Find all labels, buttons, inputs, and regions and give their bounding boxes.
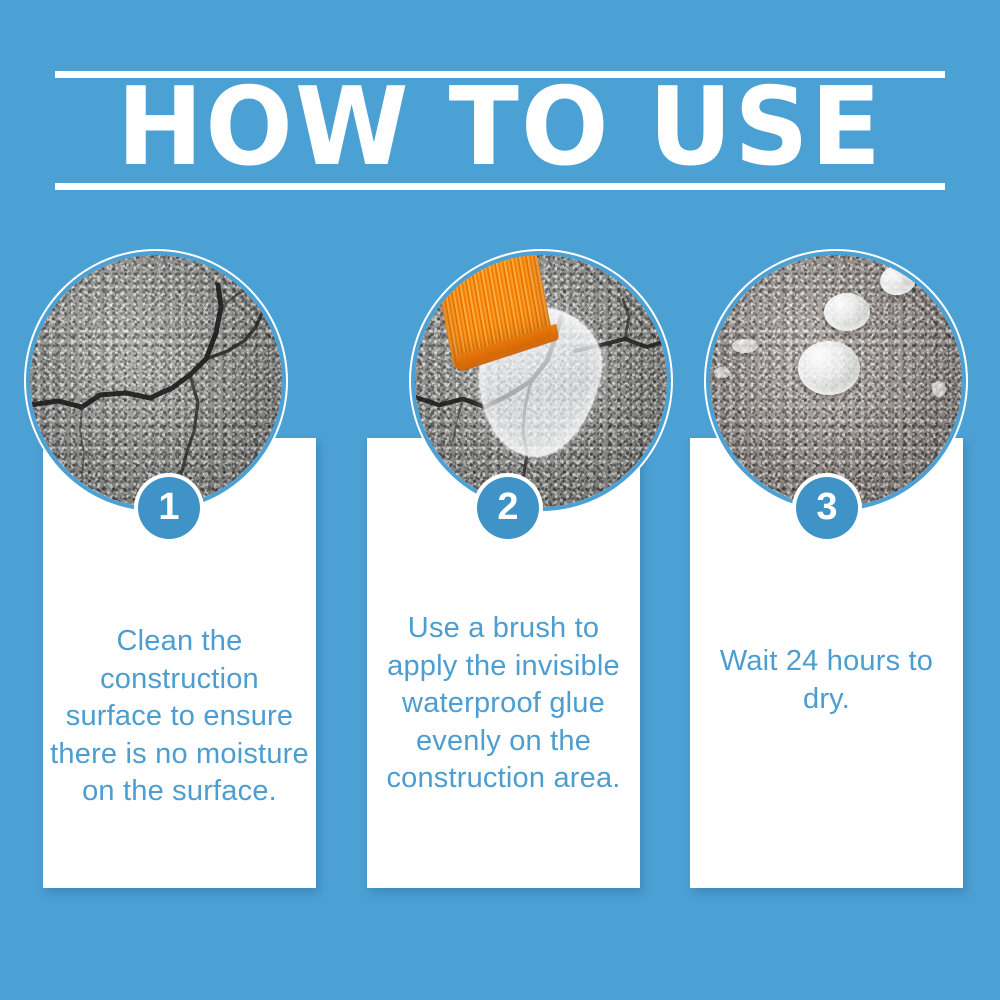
- step-2-number-badge: 2: [477, 477, 539, 539]
- step-1-number-badge: 1: [138, 477, 200, 539]
- step-3-photo-water-droplets-icon: [710, 255, 962, 507]
- crack-lines-icon: [30, 255, 282, 507]
- step-2-photo-brush-applying-glue-icon: [415, 255, 667, 507]
- step-card-2: Use a brush to apply the invisible water…: [367, 255, 640, 915]
- step-3-number-badge: 3: [796, 477, 858, 539]
- step-3-caption: Wait 24 hours to dry.: [696, 643, 957, 718]
- step-card-3: Wait 24 hours to dry. 3: [690, 255, 963, 915]
- step-1-photo-cracked-concrete-icon: [30, 255, 282, 507]
- step-1-caption: Clean the construction surface to ensure…: [49, 623, 310, 811]
- water-droplet-icon: [932, 381, 946, 397]
- how-to-use-infographic: HOW TO USE Clean the construction surfac…: [0, 0, 1000, 1000]
- water-droplet-icon: [798, 341, 860, 395]
- step-2-caption: Use a brush to apply the invisible water…: [373, 610, 634, 798]
- water-droplet-icon: [732, 339, 758, 353]
- steps-row: Clean the construction surface to ensure…: [0, 255, 1000, 935]
- header: HOW TO USE: [0, 0, 1000, 200]
- water-droplet-icon: [824, 293, 870, 331]
- step-card-1: Clean the construction surface to ensure…: [43, 255, 316, 915]
- page-title: HOW TO USE: [0, 76, 1000, 180]
- water-droplet-icon: [714, 367, 730, 378]
- title-rule-bottom: [55, 183, 945, 190]
